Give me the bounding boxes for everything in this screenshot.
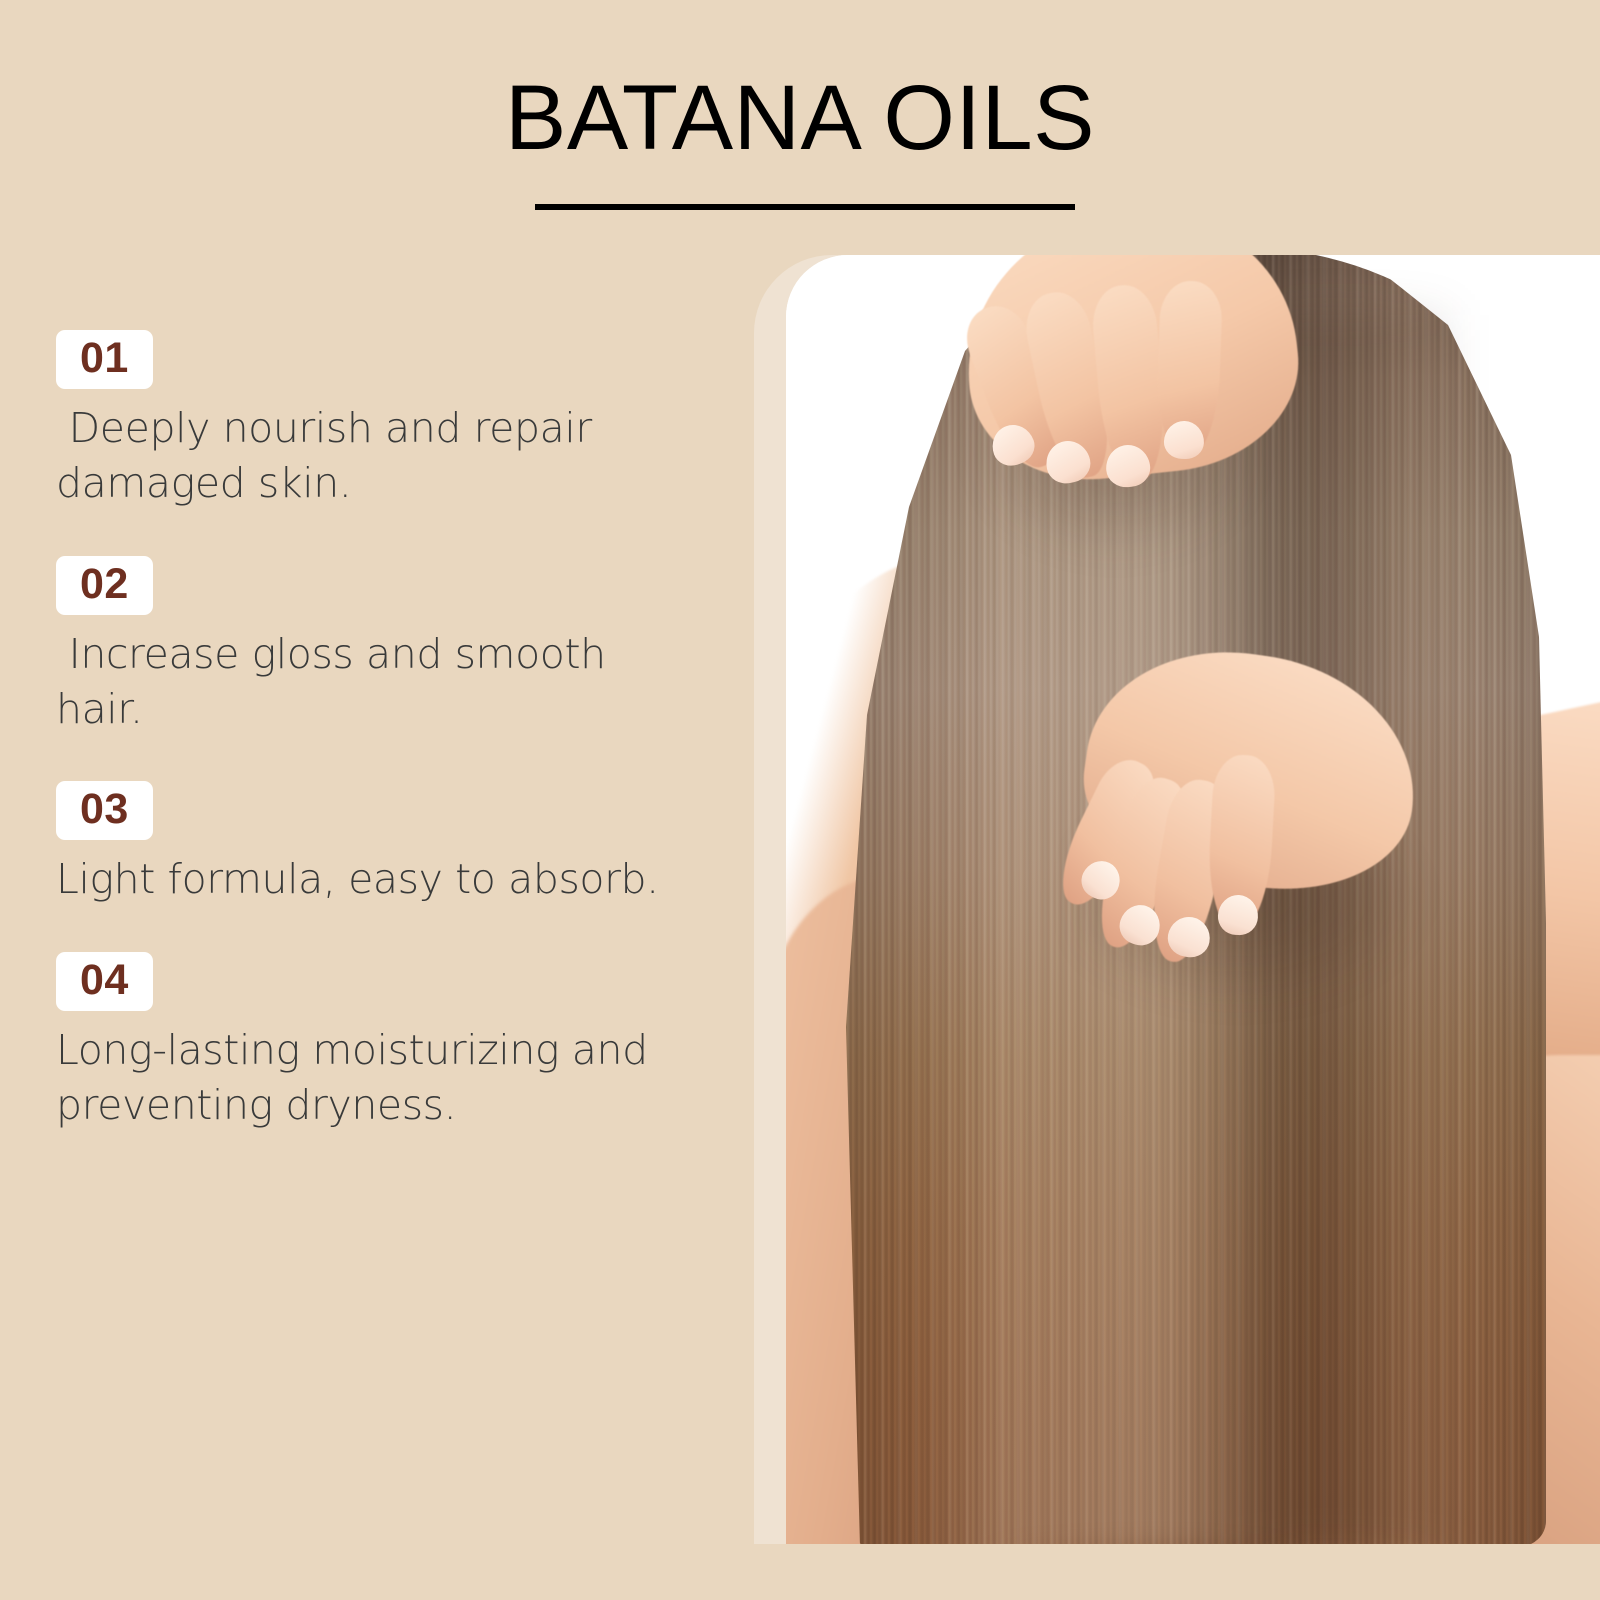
feature-number-02: 02 <box>80 560 129 608</box>
feature-number-badge-01: 01 <box>56 330 153 389</box>
feature-number-01: 01 <box>80 334 129 382</box>
feature-description-04: Long-lasting moisturizing and preventing… <box>56 1023 676 1134</box>
feature-number-badge-04: 04 <box>56 952 153 1011</box>
feature-item-01: 01 Deeply nourish and repair damaged ski… <box>56 330 696 512</box>
feature-description-02: Increase gloss and smooth hair. <box>56 627 676 738</box>
product-photo <box>786 255 1600 1544</box>
product-infographic-poster: BATANA OILS 01 Deeply nourish and repair… <box>0 0 1600 1600</box>
feature-item-04: 04 Long-lasting moisturizing and prevent… <box>56 952 696 1134</box>
feature-number-04: 04 <box>80 956 129 1004</box>
title-block: BATANA OILS <box>0 72 1600 164</box>
page-title: BATANA OILS <box>0 72 1600 164</box>
feature-item-02: 02 Increase gloss and smooth hair. <box>56 556 696 738</box>
feature-description-01: Deeply nourish and repair damaged skin. <box>56 401 676 512</box>
feature-number-badge-03: 03 <box>56 781 153 840</box>
feature-description-03: Light formula, easy to absorb. <box>56 852 676 907</box>
title-underline-rule <box>535 204 1075 210</box>
feature-number-03: 03 <box>80 785 129 833</box>
feature-number-badge-02: 02 <box>56 556 153 615</box>
feature-item-03: 03 Light formula, easy to absorb. <box>56 781 696 907</box>
feature-list: 01 Deeply nourish and repair damaged ski… <box>56 330 696 1133</box>
